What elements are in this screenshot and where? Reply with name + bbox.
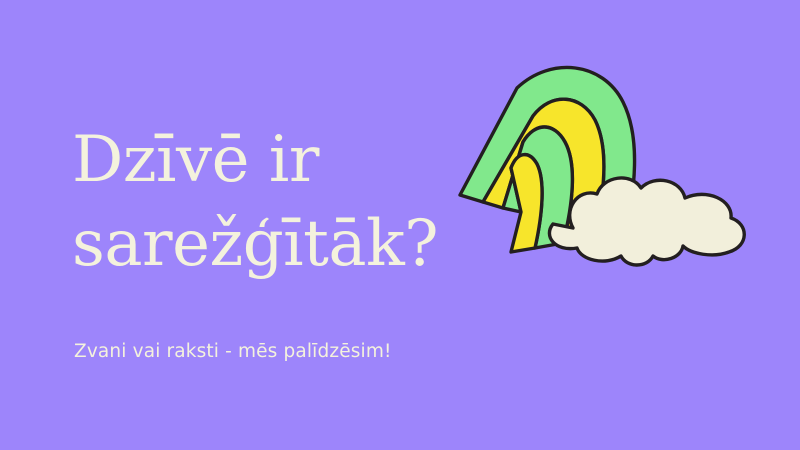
subtitle-text: Zvani vai raksti - mēs palīdzēsim! (74, 341, 392, 362)
page-title: Dzīvē ir sarežģītāk? (72, 118, 502, 287)
rainbow-cloud-illustration (455, 60, 745, 290)
text-block: Dzīvē ir sarežģītāk? (72, 118, 502, 287)
promo-banner: Dzīvē ir sarežģītāk? Zvani vai raksti - … (0, 0, 800, 450)
